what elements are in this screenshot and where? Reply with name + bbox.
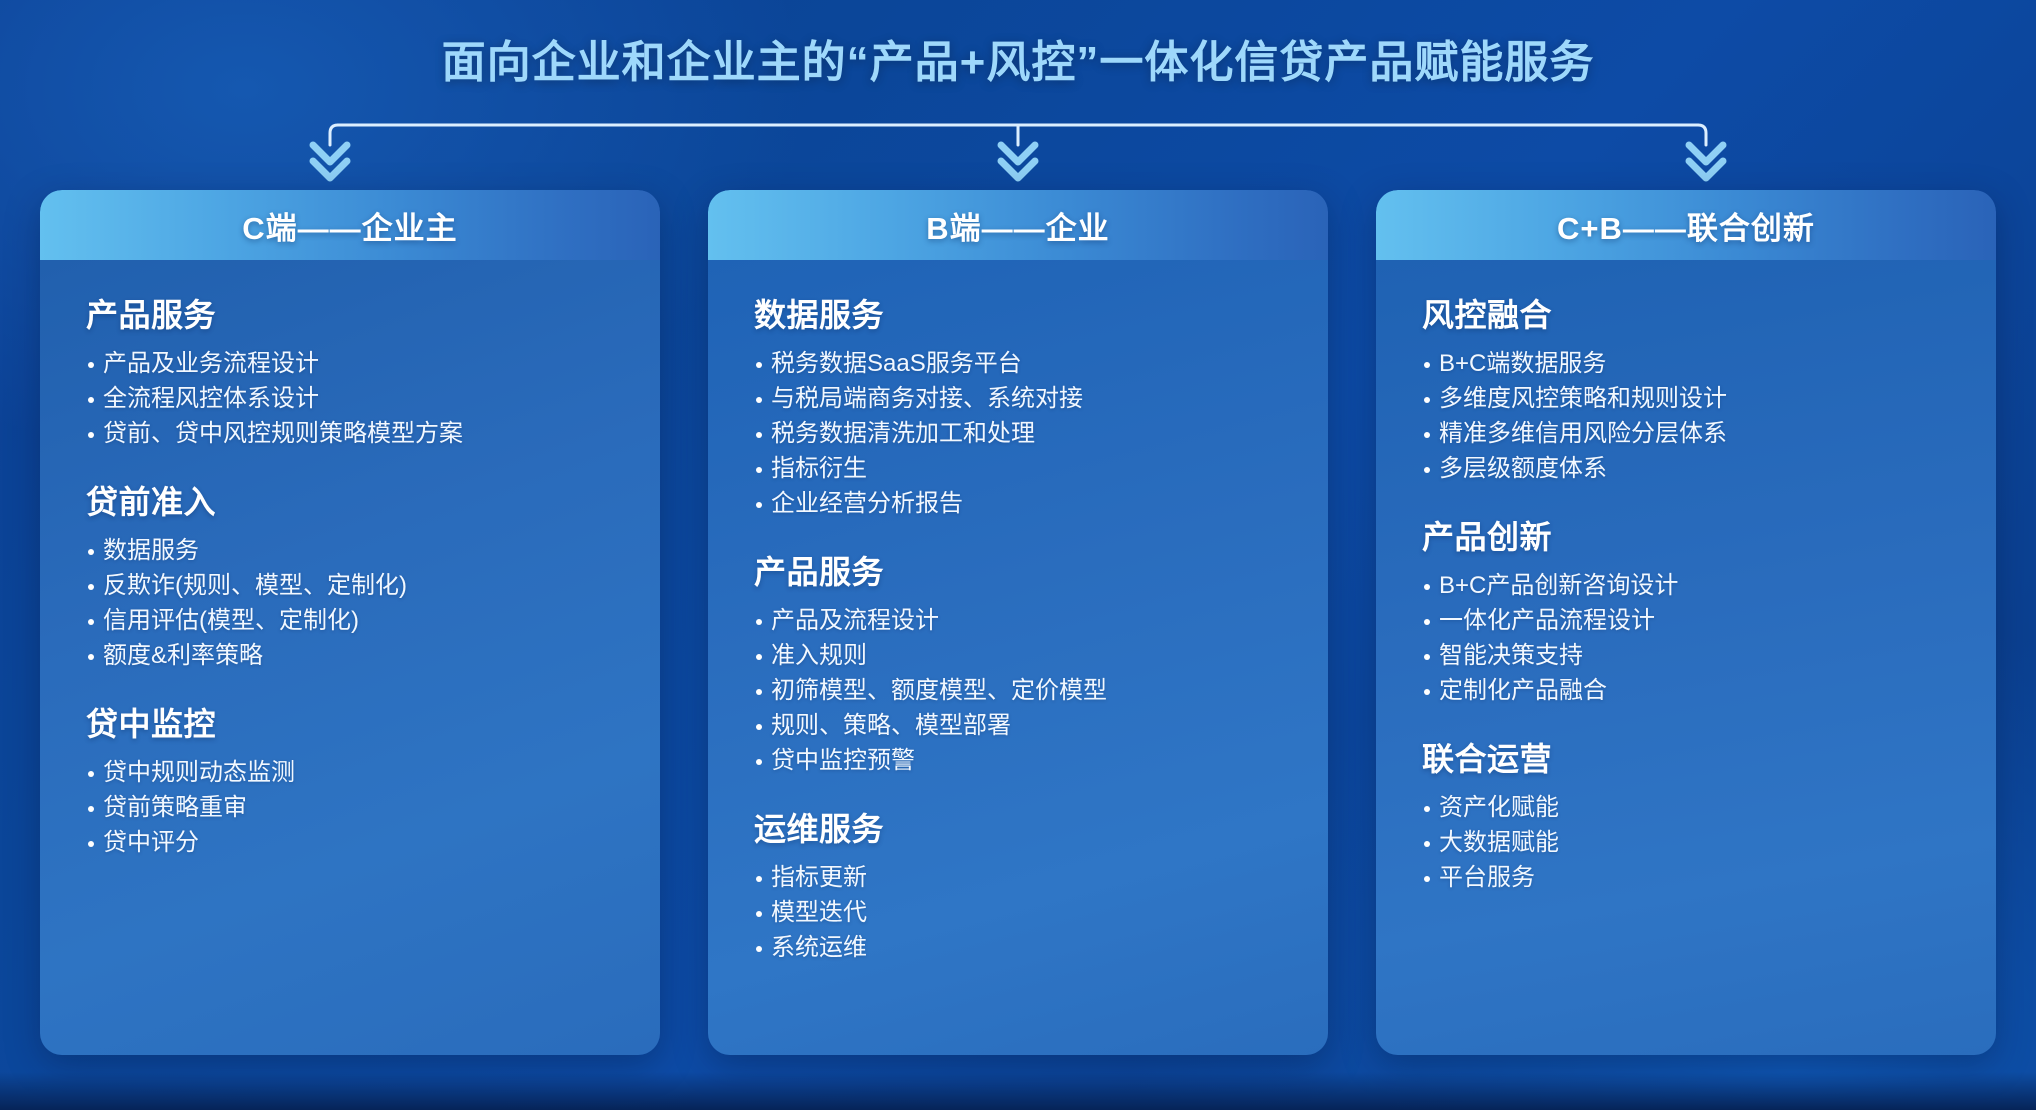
list-item: 智能决策支持 bbox=[1422, 638, 1956, 673]
section-block: 风控融合 B+C端数据服务 多维度风控策略和规则设计 精准多维信用风险分层体系 … bbox=[1422, 290, 1956, 486]
section-title: 联合运营 bbox=[1422, 734, 1956, 780]
list-item: 多维度风控策略和规则设计 bbox=[1422, 381, 1956, 416]
list-item: 平台服务 bbox=[1422, 860, 1956, 895]
column-body-c-end: 产品服务 产品及业务流程设计 全流程风控体系设计 贷前、贷中风控规则策略模型方案… bbox=[40, 260, 660, 1055]
list-item: 指标衍生 bbox=[754, 451, 1288, 486]
section-list: B+C端数据服务 多维度风控策略和规则设计 精准多维信用风险分层体系 多层级额度… bbox=[1422, 346, 1956, 486]
section-list: 数据服务 反欺诈(规则、模型、定制化) 信用评估(模型、定制化) 额度&利率策略 bbox=[86, 533, 620, 673]
section-block: 联合运营 资产化赋能 大数据赋能 平台服务 bbox=[1422, 734, 1956, 895]
column-body-cb-innovation: 风控融合 B+C端数据服务 多维度风控策略和规则设计 精准多维信用风险分层体系 … bbox=[1376, 260, 1996, 1055]
card-columns: C端——企业主 产品服务 产品及业务流程设计 全流程风控体系设计 贷前、贷中风控… bbox=[40, 190, 1996, 1055]
section-title: 风控融合 bbox=[1422, 290, 1956, 336]
page-title: 面向企业和企业主的“产品+风控”一体化信贷产品赋能服务 bbox=[0, 26, 2036, 90]
list-item: 数据服务 bbox=[86, 533, 620, 568]
list-item: 企业经营分析报告 bbox=[754, 486, 1288, 521]
section-list: B+C产品创新咨询设计 一体化产品流程设计 智能决策支持 定制化产品融合 bbox=[1422, 568, 1956, 708]
section-title: 数据服务 bbox=[754, 290, 1288, 336]
connector-bracket bbox=[0, 105, 2036, 185]
list-item: 贷中评分 bbox=[86, 825, 620, 860]
list-item: 贷前、贷中风控规则策略模型方案 bbox=[86, 416, 620, 451]
section-title: 贷前准入 bbox=[86, 477, 620, 523]
list-item: 指标更新 bbox=[754, 860, 1288, 895]
list-item: 准入规则 bbox=[754, 638, 1288, 673]
list-item: 产品及流程设计 bbox=[754, 603, 1288, 638]
list-item: 资产化赋能 bbox=[1422, 790, 1956, 825]
list-item: 一体化产品流程设计 bbox=[1422, 603, 1956, 638]
list-item: 反欺诈(规则、模型、定制化) bbox=[86, 568, 620, 603]
column-header-label: C+B——联合创新 bbox=[1557, 203, 1815, 248]
section-list: 产品及流程设计 准入规则 初筛模型、额度模型、定价模型 规则、策略、模型部署 贷… bbox=[754, 603, 1288, 778]
column-card-c-end[interactable]: C端——企业主 产品服务 产品及业务流程设计 全流程风控体系设计 贷前、贷中风控… bbox=[40, 190, 660, 1055]
column-card-b-end[interactable]: B端——企业 数据服务 税务数据SaaS服务平台 与税局端商务对接、系统对接 税… bbox=[708, 190, 1328, 1055]
column-header-cb-innovation: C+B——联合创新 bbox=[1376, 190, 1996, 260]
list-item: 多层级额度体系 bbox=[1422, 451, 1956, 486]
section-block: 运维服务 指标更新 模型迭代 系统运维 bbox=[754, 804, 1288, 965]
column-header-label: B端——企业 bbox=[926, 203, 1109, 248]
section-block: 数据服务 税务数据SaaS服务平台 与税局端商务对接、系统对接 税务数据清洗加工… bbox=[754, 290, 1288, 521]
section-title: 运维服务 bbox=[754, 804, 1288, 850]
section-block: 产品创新 B+C产品创新咨询设计 一体化产品流程设计 智能决策支持 定制化产品融… bbox=[1422, 512, 1956, 708]
section-title: 产品服务 bbox=[86, 290, 620, 336]
list-item: 初筛模型、额度模型、定价模型 bbox=[754, 673, 1288, 708]
column-card-cb-innovation[interactable]: C+B——联合创新 风控融合 B+C端数据服务 多维度风控策略和规则设计 精准多… bbox=[1376, 190, 1996, 1055]
column-body-b-end: 数据服务 税务数据SaaS服务平台 与税局端商务对接、系统对接 税务数据清洗加工… bbox=[708, 260, 1328, 1055]
section-block: 贷前准入 数据服务 反欺诈(规则、模型、定制化) 信用评估(模型、定制化) 额度… bbox=[86, 477, 620, 673]
section-block: 贷中监控 贷中规则动态监测 贷前策略重审 贷中评分 bbox=[86, 699, 620, 860]
section-title: 产品创新 bbox=[1422, 512, 1956, 558]
column-header-label: C端——企业主 bbox=[242, 203, 457, 248]
list-item: 与税局端商务对接、系统对接 bbox=[754, 381, 1288, 416]
list-item: 精准多维信用风险分层体系 bbox=[1422, 416, 1956, 451]
list-item: B+C产品创新咨询设计 bbox=[1422, 568, 1956, 603]
list-item: 贷前策略重审 bbox=[86, 790, 620, 825]
list-item: 模型迭代 bbox=[754, 895, 1288, 930]
slide-root: 面向企业和企业主的“产品+风控”一体化信贷产品赋能服务 C端——企业主 产品服务 bbox=[0, 0, 2036, 1110]
list-item: 系统运维 bbox=[754, 930, 1288, 965]
section-block: 产品服务 产品及流程设计 准入规则 初筛模型、额度模型、定价模型 规则、策略、模… bbox=[754, 547, 1288, 778]
section-list: 税务数据SaaS服务平台 与税局端商务对接、系统对接 税务数据清洗加工和处理 指… bbox=[754, 346, 1288, 521]
list-item: 额度&利率策略 bbox=[86, 638, 620, 673]
list-item: 规则、策略、模型部署 bbox=[754, 708, 1288, 743]
double-chevron-down-icon bbox=[313, 145, 1723, 178]
section-title: 贷中监控 bbox=[86, 699, 620, 745]
list-item: 贷中规则动态监测 bbox=[86, 755, 620, 790]
list-item: 信用评估(模型、定制化) bbox=[86, 603, 620, 638]
list-item: 贷中监控预警 bbox=[754, 743, 1288, 778]
section-list: 指标更新 模型迭代 系统运维 bbox=[754, 860, 1288, 965]
list-item: 税务数据清洗加工和处理 bbox=[754, 416, 1288, 451]
column-header-c-end: C端——企业主 bbox=[40, 190, 660, 260]
list-item: B+C端数据服务 bbox=[1422, 346, 1956, 381]
list-item: 税务数据SaaS服务平台 bbox=[754, 346, 1288, 381]
list-item: 产品及业务流程设计 bbox=[86, 346, 620, 381]
section-list: 贷中规则动态监测 贷前策略重审 贷中评分 bbox=[86, 755, 620, 860]
list-item: 定制化产品融合 bbox=[1422, 673, 1956, 708]
list-item: 全流程风控体系设计 bbox=[86, 381, 620, 416]
section-block: 产品服务 产品及业务流程设计 全流程风控体系设计 贷前、贷中风控规则策略模型方案 bbox=[86, 290, 620, 451]
section-title: 产品服务 bbox=[754, 547, 1288, 593]
list-item: 大数据赋能 bbox=[1422, 825, 1956, 860]
section-list: 资产化赋能 大数据赋能 平台服务 bbox=[1422, 790, 1956, 895]
section-list: 产品及业务流程设计 全流程风控体系设计 贷前、贷中风控规则策略模型方案 bbox=[86, 346, 620, 451]
column-header-b-end: B端——企业 bbox=[708, 190, 1328, 260]
